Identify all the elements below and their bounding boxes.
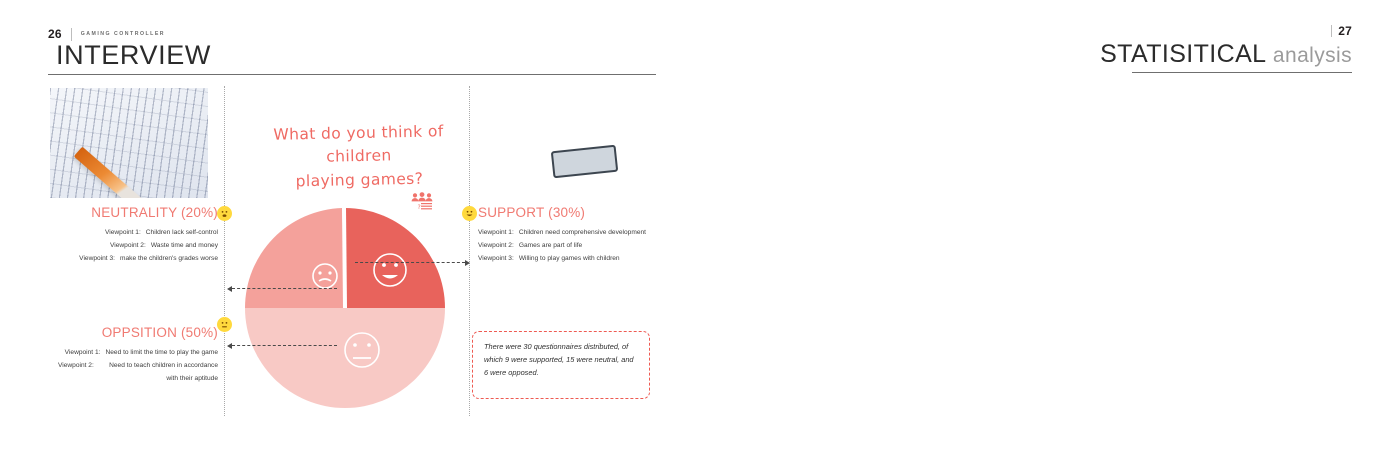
viewpoint-text: Games are part of life <box>519 240 582 253</box>
viewpoint-row: Viewpoint 1: Need to limit the time to p… <box>58 347 218 360</box>
viewpoint-row: Viewpoint 3: make the children's grades … <box>58 253 218 266</box>
page-title-interview: INTERVIEW <box>56 40 211 71</box>
math-homework-photo <box>50 88 208 198</box>
section-support-viewpoints: Viewpoint 1: Children need comprehensive… <box>478 227 653 266</box>
right-page-header: 27 <box>1331 24 1352 38</box>
viewpoint-row: Viewpoint 2: Games are part of life <box>478 240 653 253</box>
family-tablet-photo <box>473 88 653 191</box>
magazine-spread: 26 GAMING CONTROLLER INTERVIEW What do y… <box>0 0 1400 454</box>
right-page: 27 STATISITICAL analysis Female gamers h… <box>700 0 1400 454</box>
arrow-to-neutrality <box>232 288 337 289</box>
viewpoint-label: Viewpoint 2: <box>478 240 514 253</box>
guide-line-left <box>224 86 225 416</box>
viewpoint-label: Viewpoint 1: <box>105 227 141 240</box>
viewpoint-text: Waste time and money <box>151 240 218 253</box>
handwritten-question: What do you think of children playing ga… <box>242 120 475 195</box>
pie-slice-opposition <box>245 308 445 408</box>
folio-number-right: 27 <box>1338 24 1352 38</box>
arrow-to-opposition <box>232 345 337 346</box>
pie-slice-neutrality <box>245 208 345 308</box>
section-support: SUPPORT (30%) Viewpoint 1: Children need… <box>478 205 653 266</box>
left-page-header: 26 GAMING CONTROLLER <box>48 27 165 41</box>
title-bold: STATISITICAL <box>1100 40 1265 68</box>
folio-number-left: 26 <box>48 27 62 41</box>
section-opposition: OPPSITION (50%) Viewpoint 1: Need to lim… <box>58 325 218 386</box>
viewpoint-text: Need to limit the time to play the game <box>105 347 218 360</box>
section-support-heading: SUPPORT (30%) <box>478 205 653 220</box>
handwritten-line-2: playing games? <box>243 166 475 194</box>
section-opposition-heading: OPPSITION (50%) <box>58 325 218 340</box>
viewpoint-text: Children lack self-control <box>146 227 218 240</box>
section-opposition-viewpoints: Viewpoint 1: Need to limit the time to p… <box>58 347 218 386</box>
questionnaire-callout: There were 30 questionnaires distributed… <box>472 331 650 399</box>
viewpoint-row: Viewpoint 3: Willing to play games with … <box>478 253 653 266</box>
section-neutrality-viewpoints: Viewpoint 1: Children lack self-control … <box>58 227 218 266</box>
opinion-pie-chart <box>245 208 445 408</box>
title-light: analysis <box>1273 44 1352 67</box>
viewpoint-text: make the children's grades worse <box>120 253 218 266</box>
section-neutrality-heading: NEUTRALITY (20%) <box>58 205 218 220</box>
viewpoint-text: Willing to play games with children <box>519 253 620 266</box>
left-page: 26 GAMING CONTROLLER INTERVIEW What do y… <box>0 0 700 454</box>
viewpoint-row: Viewpoint 2: Need to teach children in a… <box>58 360 218 386</box>
title-rule-right <box>1132 72 1352 73</box>
smiling-face-icon <box>462 206 477 221</box>
section-neutrality: NEUTRALITY (20%) Viewpoint 1: Children l… <box>58 205 218 266</box>
running-head: GAMING CONTROLLER <box>81 31 165 37</box>
title-rule <box>48 74 656 75</box>
neutral-face-icon <box>217 317 232 332</box>
viewpoint-label: Viewpoint 1: <box>478 227 514 240</box>
handwritten-line-1: What do you think of children <box>273 122 444 166</box>
page-title-statistical: STATISITICAL analysis <box>1100 40 1352 69</box>
viewpoint-text: Need to teach children in accordance wit… <box>99 360 218 386</box>
viewpoint-row: Viewpoint 1: Children lack self-control <box>58 227 218 240</box>
viewpoint-label: Viewpoint 3: <box>79 253 115 266</box>
folio-divider <box>71 28 72 41</box>
pie-svg <box>245 208 445 408</box>
viewpoint-row: Viewpoint 1: Children need comprehensive… <box>478 227 653 240</box>
folio-divider-right <box>1331 25 1332 37</box>
arrow-to-support <box>355 262 465 263</box>
viewpoint-label: Viewpoint 3: <box>478 253 514 266</box>
viewpoint-label: Viewpoint 2: <box>110 240 146 253</box>
viewpoint-text: Children need comprehensive development <box>519 227 646 240</box>
viewpoint-label: Viewpoint 2: <box>58 360 94 386</box>
confused-face-icon <box>217 206 232 221</box>
viewpoint-label: Viewpoint 1: <box>65 347 101 360</box>
pie-slice-support <box>345 208 445 308</box>
viewpoint-row: Viewpoint 2: Waste time and money <box>58 240 218 253</box>
